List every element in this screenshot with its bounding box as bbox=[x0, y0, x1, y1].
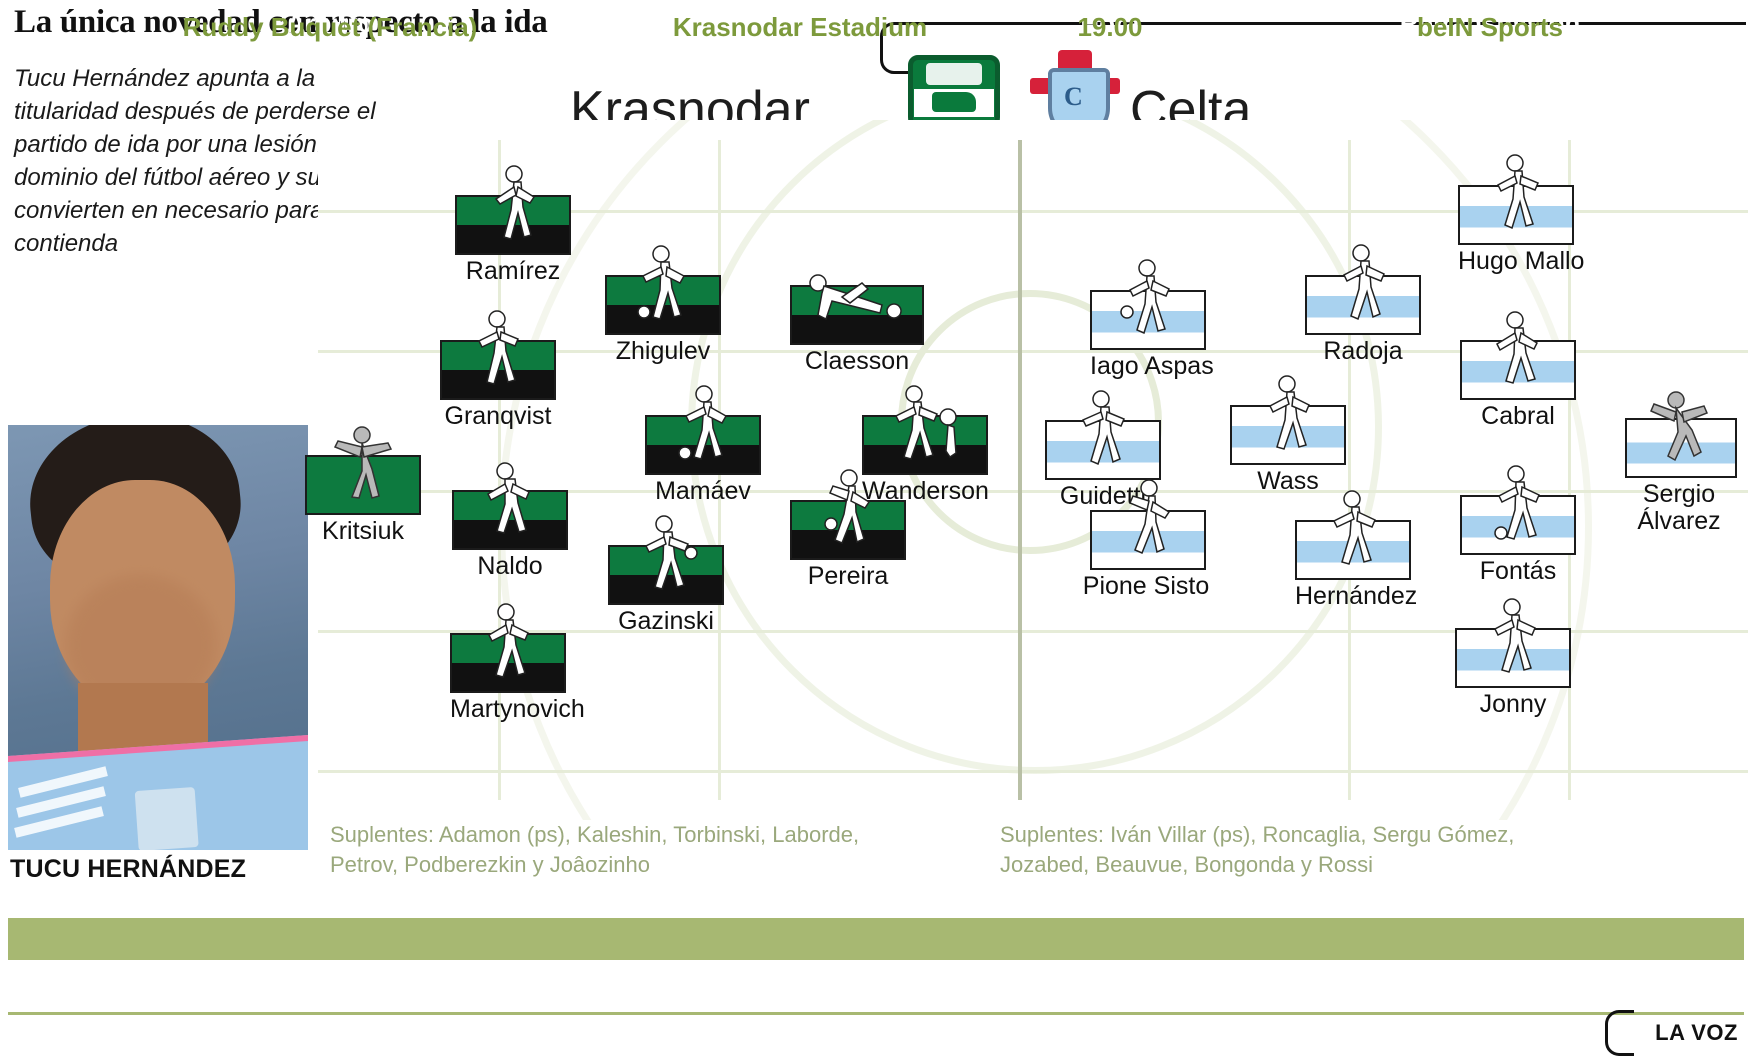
photo-jersey bbox=[8, 733, 308, 850]
player-marker-martynovich: Martynovich bbox=[450, 633, 585, 723]
player-name: Pione Sisto bbox=[1081, 573, 1211, 600]
player-name: Ramírez bbox=[455, 258, 571, 285]
player-marker-jonny: Jonny bbox=[1455, 628, 1571, 718]
player-marker-cabral: Cabral bbox=[1460, 340, 1576, 430]
crest-letter: C bbox=[1064, 82, 1083, 112]
player-marker-ramirez: Ramírez bbox=[455, 195, 571, 285]
info-value-arbitro: Ruddy Buquet (Francia) bbox=[150, 12, 510, 43]
player-marker-wass: Wass bbox=[1230, 405, 1346, 495]
player-name: Jonny bbox=[1455, 691, 1571, 718]
player-name: Gazinski bbox=[608, 608, 724, 635]
info-table-header bbox=[8, 918, 1744, 960]
player-marker-hernandez: Hernández bbox=[1295, 520, 1417, 610]
player-name: Kritsiuk bbox=[305, 518, 421, 545]
player-marker-pereira: Pereira bbox=[790, 500, 906, 590]
player-marker-wanderson: Wanderson bbox=[862, 415, 989, 505]
info-table-body bbox=[8, 960, 1744, 1015]
player-marker-naldo: Naldo bbox=[452, 490, 568, 580]
player-name: Sergio Álvarez bbox=[1619, 481, 1739, 535]
brand-logo: LA VOZ bbox=[1655, 1020, 1738, 1046]
player-name: Pereira bbox=[790, 563, 906, 590]
player-marker-guidetti: Guidetti bbox=[1045, 420, 1161, 510]
player-name: Granqvist bbox=[440, 403, 556, 430]
player-name: Wass bbox=[1230, 468, 1346, 495]
player-name: Radoja bbox=[1305, 338, 1421, 365]
photo-caption: TUCU HERNÁNDEZ bbox=[10, 855, 310, 884]
player-marker-gazinski: Gazinski bbox=[608, 545, 724, 635]
player-marker-claesson: Claesson bbox=[790, 285, 924, 375]
info-value-estadio: Krasnodar Estadium bbox=[620, 12, 980, 43]
player-name: Martynovich bbox=[450, 696, 585, 723]
player-marker-fontas: Fontás bbox=[1460, 495, 1576, 585]
info-value-hora: 19.00 bbox=[1000, 12, 1220, 43]
bottom-brace-decoration bbox=[1605, 1010, 1634, 1056]
player-marker-mamaev: Mamáev bbox=[645, 415, 761, 505]
info-value-retransmision: beIN Sports bbox=[1310, 12, 1670, 43]
player-marker-kritsiuk: Kritsiuk bbox=[305, 455, 421, 545]
player-name: Hugo Mallo bbox=[1458, 248, 1584, 275]
player-marker-sergio-alvarez: Sergio Álvarez bbox=[1625, 418, 1739, 535]
player-photo bbox=[8, 425, 308, 850]
player-marker-radoja: Radoja bbox=[1305, 275, 1421, 365]
player-name: Hernández bbox=[1295, 583, 1417, 610]
substitutes-away: Suplentes: Iván Villar (ps), Roncaglia, … bbox=[1000, 820, 1560, 880]
player-marker-iago-aspas: Iago Aspas bbox=[1090, 290, 1214, 380]
player-name: Iago Aspas bbox=[1090, 353, 1214, 380]
player-name: Naldo bbox=[452, 553, 568, 580]
player-marker-granqvist: Granqvist bbox=[440, 340, 556, 430]
player-marker-zhigulev: Zhigulev bbox=[605, 275, 721, 365]
player-name: Fontás bbox=[1460, 558, 1576, 585]
player-name: Claesson bbox=[790, 348, 924, 375]
player-marker-pione-sisto: Pione Sisto bbox=[1090, 510, 1211, 600]
player-name: Cabral bbox=[1460, 403, 1576, 430]
player-marker-hugo-mallo: Hugo Mallo bbox=[1458, 185, 1584, 275]
player-name: Mamáev bbox=[645, 478, 761, 505]
player-name: Zhigulev bbox=[605, 338, 721, 365]
substitutes-home: Suplentes: Adamon (ps), Kaleshin, Torbin… bbox=[330, 820, 890, 880]
player-name: Guidetti bbox=[1045, 483, 1161, 510]
